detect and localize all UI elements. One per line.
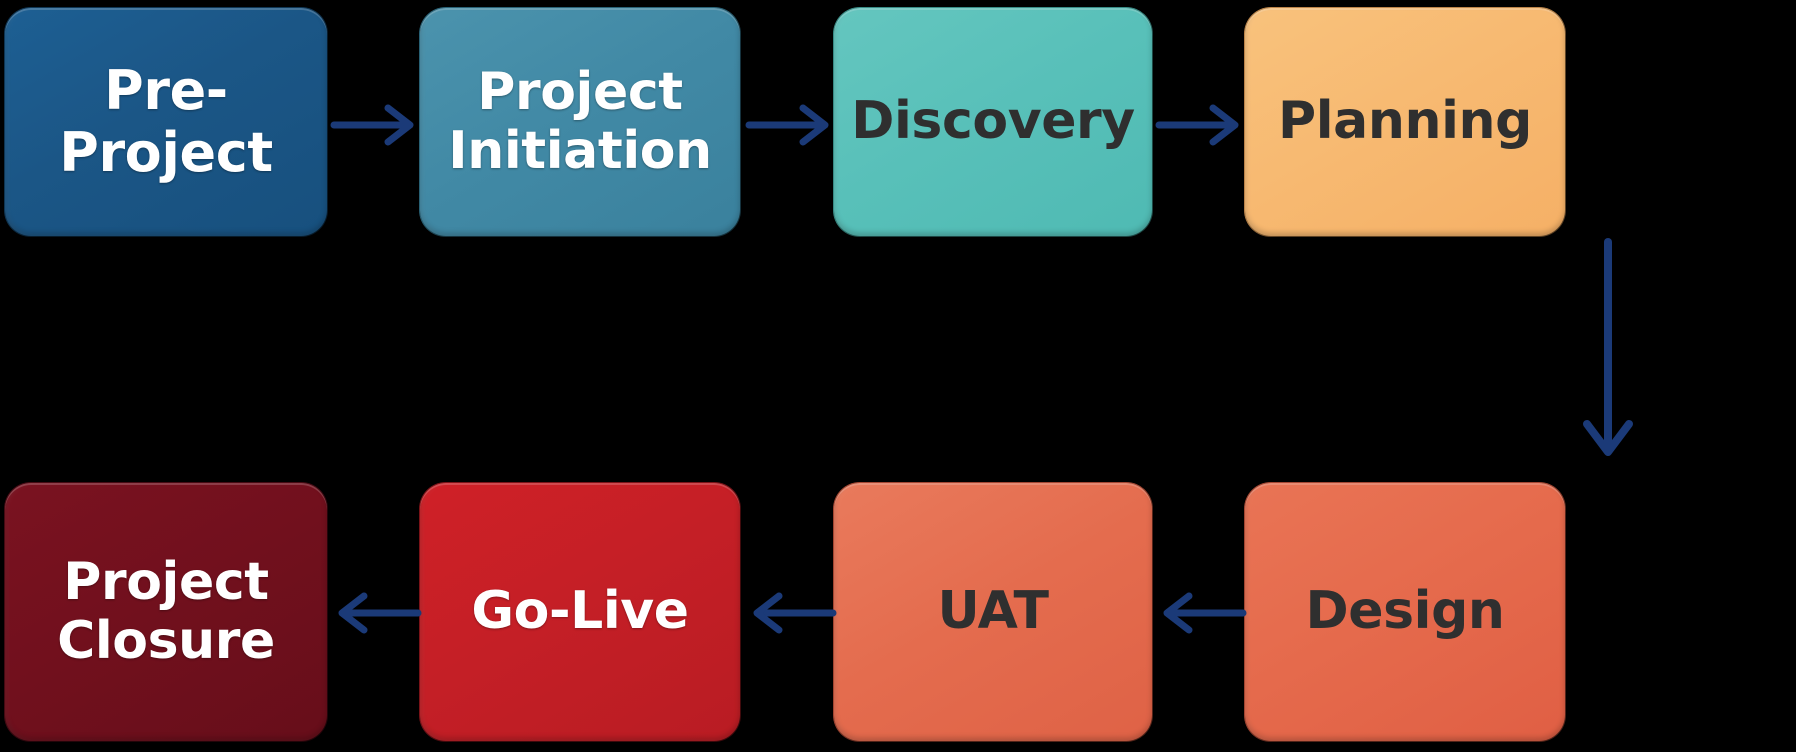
- node-discovery[interactable]: Discovery: [834, 8, 1152, 236]
- node-planning-label: Planning: [1259, 92, 1551, 151]
- node-pre-project-label: Pre- Project: [19, 60, 313, 183]
- node-project-initiation-label: Project Initiation: [434, 63, 726, 182]
- node-uat[interactable]: UAT: [834, 483, 1152, 741]
- node-discovery-label: Discovery: [848, 92, 1138, 151]
- node-go-live[interactable]: Go-Live: [420, 483, 740, 741]
- node-pre-project[interactable]: Pre- Project: [5, 8, 327, 236]
- node-project-closure-label: Project Closure: [19, 553, 313, 672]
- arrow-uat-to-go-live: [745, 588, 837, 638]
- arrow-pre-project-to-project-initiation: [330, 100, 422, 150]
- node-planning[interactable]: Planning: [1245, 8, 1565, 236]
- node-project-initiation[interactable]: Project Initiation: [420, 8, 740, 236]
- node-uat-label: UAT: [848, 582, 1138, 641]
- node-design[interactable]: Design: [1245, 483, 1565, 741]
- arrow-design-to-uat: [1155, 588, 1247, 638]
- node-go-live-label: Go-Live: [434, 582, 726, 641]
- flowchart-canvas: Pre- Project Project Initiation Discover…: [0, 0, 1796, 752]
- node-design-label: Design: [1259, 582, 1551, 641]
- node-project-closure[interactable]: Project Closure: [5, 483, 327, 741]
- arrow-discovery-to-planning: [1155, 100, 1247, 150]
- arrow-project-initiation-to-discovery: [745, 100, 837, 150]
- arrow-go-live-to-project-closure: [330, 588, 422, 638]
- arrow-planning-to-design: [1580, 238, 1636, 470]
